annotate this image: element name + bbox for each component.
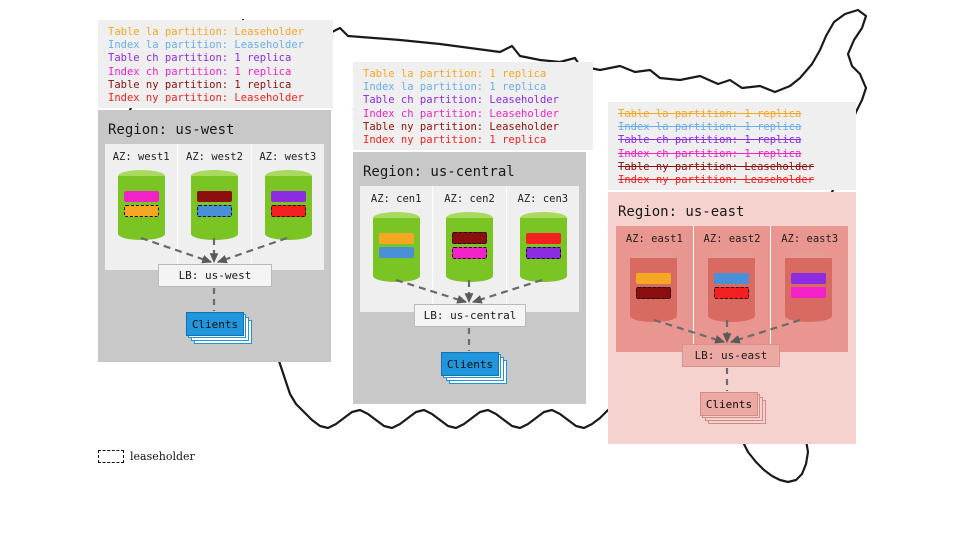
cylinder-bottom <box>520 270 567 282</box>
info-line: Table ny partition: Leaseholder <box>618 161 848 174</box>
node-cylinder[interactable] <box>520 212 567 282</box>
az-label: AZ: cen1 <box>360 193 432 205</box>
az-strip-us-east: AZ: east1 AZ: east2 AZ: east3 <box>616 226 848 352</box>
info-line: Table ny partition: 1 replica <box>108 79 325 92</box>
range-stripe-index-la-leaseholder <box>197 205 232 217</box>
region-title: Region: us-east <box>618 204 744 220</box>
legend: leaseholder <box>98 450 195 463</box>
az-west1[interactable]: AZ: west1 <box>105 144 178 270</box>
az-label: AZ: west3 <box>252 151 324 163</box>
legend-label: leaseholder <box>130 450 195 463</box>
az-cen3[interactable]: AZ: cen3 <box>507 186 579 312</box>
info-line: Index ch partition: 1 replica <box>108 66 325 79</box>
cylinder-bottom <box>446 270 493 282</box>
clients-stack-us-east[interactable]: Clients <box>700 392 768 426</box>
az-label: AZ: cen3 <box>507 193 579 205</box>
range-stripe-index-ch <box>791 287 826 298</box>
info-line: Index ny partition: 1 replica <box>363 134 585 147</box>
load-balancer-us-east[interactable]: LB: us-east <box>682 344 780 367</box>
range-stripe-table-ch <box>791 273 826 284</box>
az-east2[interactable]: AZ: east2 <box>694 226 772 352</box>
info-line: Table la partition: 1 replica <box>363 68 585 81</box>
range-stripe-table-ch <box>271 191 306 202</box>
info-line: Index ch partition: Leaseholder <box>363 108 585 121</box>
info-line: Table ch partition: Leaseholder <box>363 94 585 107</box>
diagram-canvas: Region: us-west Table la partition: Leas… <box>0 0 960 540</box>
info-line: Index la partition: 1 replica <box>363 81 585 94</box>
az-west2[interactable]: AZ: west2 <box>178 144 251 270</box>
node-cylinder[interactable] <box>630 252 677 322</box>
node-cylinder[interactable] <box>785 252 832 322</box>
az-strip-us-west: AZ: west1 AZ: west2 AZ: west3 <box>105 144 324 270</box>
cylinder-bottom <box>630 310 677 322</box>
node-cylinder[interactable] <box>191 170 238 240</box>
az-cen1[interactable]: AZ: cen1 <box>360 186 433 312</box>
clients-stack-us-west[interactable]: Clients <box>186 312 254 346</box>
node-cylinder[interactable] <box>446 212 493 282</box>
clients-box[interactable]: Clients <box>441 352 499 376</box>
range-stripe-index-la <box>379 247 414 258</box>
range-stripe-index-ny-leaseholder <box>271 205 306 217</box>
node-cylinder[interactable] <box>265 170 312 240</box>
cylinder-bottom <box>373 270 420 282</box>
cylinder-bottom <box>785 310 832 322</box>
az-west3[interactable]: AZ: west3 <box>252 144 324 270</box>
info-line: Index ny partition: Leaseholder <box>108 92 325 105</box>
node-cylinder[interactable] <box>373 212 420 282</box>
az-label: AZ: west1 <box>105 151 177 163</box>
clients-stack-us-central[interactable]: Clients <box>441 352 509 386</box>
info-line: Table la partition: 1 replica <box>618 108 848 121</box>
range-stripe-table-la-leaseholder <box>124 205 159 217</box>
az-strip-us-central: AZ: cen1 AZ: cen2 AZ: cen3 <box>360 186 579 312</box>
range-stripe-index-ny <box>526 233 561 244</box>
range-stripe-table-la <box>636 273 671 284</box>
cylinder-bottom <box>708 310 755 322</box>
az-label: AZ: cen2 <box>433 193 505 205</box>
az-cen2[interactable]: AZ: cen2 <box>433 186 506 312</box>
cylinder-bottom <box>118 228 165 240</box>
info-line: Index la partition: 1 replica <box>618 121 848 134</box>
range-stripe-table-ny <box>197 191 232 202</box>
range-stripe-table-ny-leaseholder <box>452 232 487 244</box>
az-label: AZ: west2 <box>178 151 250 163</box>
info-box-us-west: Table la partition: Leaseholder Index la… <box>98 20 333 108</box>
info-line: Table la partition: Leaseholder <box>108 26 325 39</box>
info-line: Index ch partition: 1 replica <box>618 148 848 161</box>
info-box-us-east: Table la partition: 1 replica Index la p… <box>608 102 856 190</box>
info-line: Index la partition: Leaseholder <box>108 39 325 52</box>
az-label: AZ: east2 <box>694 233 771 245</box>
range-stripe-index-ch-leaseholder <box>452 247 487 259</box>
range-stripe-table-ch-leaseholder <box>526 247 561 259</box>
clients-box[interactable]: Clients <box>186 312 244 336</box>
range-stripe-table-ny-leaseholder <box>636 287 671 299</box>
node-cylinder[interactable] <box>118 170 165 240</box>
info-line: Index ny partition: Leaseholder <box>618 174 848 187</box>
dashed-rect-icon <box>98 450 124 463</box>
node-cylinder[interactable] <box>708 252 755 322</box>
region-title: Region: us-west <box>108 122 234 138</box>
range-stripe-index-ny-leaseholder <box>714 287 749 299</box>
info-line: Table ch partition: 1 replica <box>108 52 325 65</box>
load-balancer-us-central[interactable]: LB: us-central <box>414 304 526 327</box>
az-label: AZ: east1 <box>616 233 693 245</box>
clients-box[interactable]: Clients <box>700 392 758 416</box>
range-stripe-index-la <box>714 273 749 284</box>
region-title: Region: us-central <box>363 164 515 180</box>
info-line: Table ch partition: 1 replica <box>618 134 848 147</box>
az-label: AZ: east3 <box>771 233 848 245</box>
cylinder-bottom <box>265 228 312 240</box>
load-balancer-us-west[interactable]: LB: us-west <box>158 264 272 287</box>
info-line: Table ny partition: Leaseholder <box>363 121 585 134</box>
info-box-us-central: Table la partition: 1 replica Index la p… <box>353 62 593 150</box>
cylinder-bottom <box>191 228 238 240</box>
az-east3[interactable]: AZ: east3 <box>771 226 848 352</box>
az-east1[interactable]: AZ: east1 <box>616 226 694 352</box>
range-stripe-table-ch <box>124 191 159 202</box>
range-stripe-table-la <box>379 233 414 244</box>
